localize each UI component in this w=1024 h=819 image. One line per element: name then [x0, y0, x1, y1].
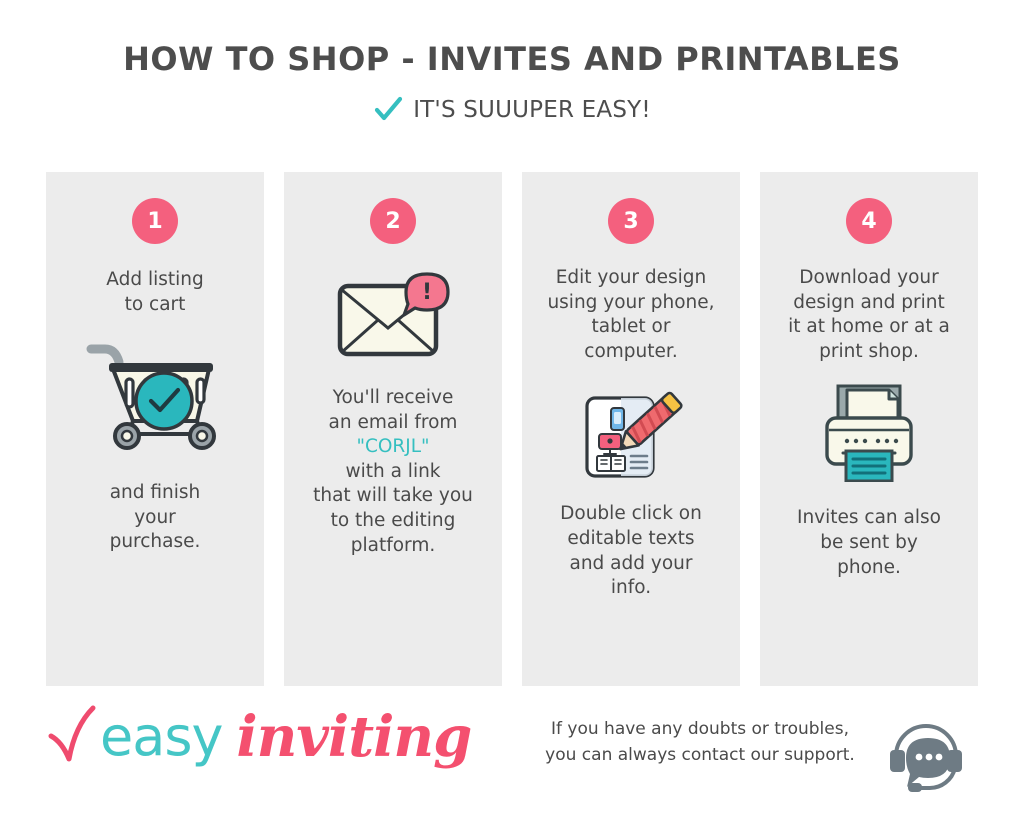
step-card-1: 1 Add listing to cart	[46, 172, 264, 686]
printer-icon	[817, 378, 921, 482]
envelope-notification-icon: !	[330, 270, 456, 362]
step-4-text-bottom: Invites can also be sent by phone.	[771, 506, 967, 580]
step-number-badge-3: 3	[608, 198, 654, 244]
step-card-2: 2 ! You'll receive an email from "CORJL"…	[284, 172, 502, 686]
document-pencil-icon	[575, 380, 687, 482]
step-card-4: 4 Download your design and print it at h…	[760, 172, 978, 686]
step-number-badge-1: 1	[132, 198, 178, 244]
step-2-brand-name: "CORJL"	[356, 436, 429, 457]
step-3-text-bottom: Double click on editable texts and add y…	[533, 502, 729, 600]
logo-word-inviting: inviting	[236, 704, 471, 770]
page-subtitle: IT'S SUUUPER EASY!	[413, 97, 651, 123]
steps-row: 1 Add listing to cart	[46, 172, 978, 686]
page-title: HOW TO SHOP - INVITES AND PRINTABLES	[0, 42, 1024, 77]
step-2-text-post: with a link that will take you to the ed…	[313, 461, 473, 556]
step-number-badge-4: 4	[846, 198, 892, 244]
page-footer: easy inviting If you have any doubts or …	[0, 690, 1024, 819]
logo-word-easy: easy	[100, 705, 222, 768]
step-card-3: 3 Edit your design using your phone, tab…	[522, 172, 740, 686]
check-icon	[46, 702, 98, 771]
step-number-badge-2: 2	[370, 198, 416, 244]
step-1-text-top: Add listing to cart	[57, 268, 253, 317]
shopping-cart-icon	[85, 335, 225, 453]
brand-logo[interactable]: easy inviting	[46, 702, 471, 771]
step-1-text-bottom: and finish your purchase.	[57, 481, 253, 555]
step-4-text-top: Download your design and print it at hom…	[771, 266, 967, 364]
check-icon	[373, 95, 403, 125]
page-header: HOW TO SHOP - INVITES AND PRINTABLES IT'…	[0, 0, 1024, 125]
svg-text:!: !	[422, 280, 432, 305]
step-2-text-pre: You'll receive an email from	[329, 387, 458, 433]
step-3-text-top: Edit your design using your phone, table…	[533, 266, 729, 364]
headset-support-icon	[884, 708, 968, 797]
support-text: If you have any doubts or troubles, you …	[520, 716, 880, 769]
step-2-text-bottom: You'll receive an email from "CORJL" wit…	[295, 386, 491, 558]
subtitle-row: IT'S SUUUPER EASY!	[0, 95, 1024, 125]
